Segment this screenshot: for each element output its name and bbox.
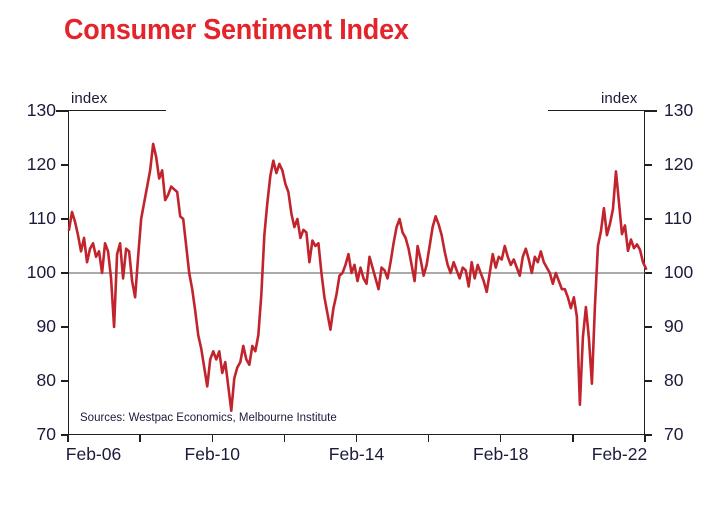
y-tick-mark-left-130 — [61, 110, 68, 111]
series-line-consumer-sentiment — [69, 144, 646, 411]
y-tick-mark-right-90 — [645, 326, 652, 327]
x-tick-mark-2 — [212, 435, 213, 442]
x-tick-mark-1 — [139, 435, 140, 442]
page-title: Consumer Sentiment Index — [64, 14, 409, 47]
y-tick-label-left-130: 130 — [27, 102, 56, 120]
y-axis-unit-label-left: index — [71, 90, 107, 107]
y-tick-label-left-110: 110 — [28, 210, 56, 228]
y-axis-unit-label-right: index — [601, 90, 637, 107]
x-tick-label-Feb-14: Feb-14 — [329, 444, 384, 465]
y-tick-label-right-110: 110 — [664, 210, 692, 228]
y-tick-label-right-100: 100 — [664, 264, 693, 282]
series-layer — [69, 111, 646, 435]
x-tick-label-Feb-10: Feb-10 — [185, 444, 240, 465]
y-tick-label-right-70: 70 — [664, 426, 683, 444]
y-tick-label-left-100: 100 — [27, 264, 56, 282]
y-tick-mark-left-100 — [61, 272, 68, 273]
x-tick-label-Feb-06: Feb-06 — [66, 444, 121, 465]
plot-area — [68, 111, 645, 435]
y-tick-label-right-120: 120 — [664, 156, 693, 174]
x-tick-mark-0 — [67, 435, 68, 442]
y-tick-mark-right-130 — [645, 110, 652, 111]
y-tick-mark-left-90 — [61, 326, 68, 327]
y-tick-mark-left-110 — [61, 218, 68, 219]
y-tick-label-right-90: 90 — [664, 318, 683, 336]
y-tick-label-right-80: 80 — [664, 372, 683, 390]
y-tick-mark-right-80 — [645, 380, 652, 381]
y-tick-mark-left-80 — [61, 380, 68, 381]
x-tick-label-Feb-18: Feb-18 — [473, 444, 528, 465]
y-tick-label-left-80: 80 — [37, 372, 56, 390]
y-tick-mark-left-120 — [61, 164, 68, 165]
x-tick-mark-5 — [428, 435, 429, 442]
x-tick-mark-3 — [284, 435, 285, 442]
y-tick-mark-right-100 — [645, 272, 652, 273]
y-tick-label-left-90: 90 — [37, 318, 56, 336]
y-tick-label-left-120: 120 — [27, 156, 56, 174]
y-tick-mark-right-120 — [645, 164, 652, 165]
x-tick-label-Feb-22: Feb-22 — [592, 444, 647, 465]
consumer-sentiment-chart: Consumer Sentiment Index index index 130… — [0, 0, 715, 505]
y-tick-mark-right-70 — [645, 434, 652, 435]
y-tick-mark-right-110 — [645, 218, 652, 219]
x-tick-mark-4 — [356, 435, 357, 442]
source-note: Sources: Westpac Economics, Melbourne In… — [80, 412, 337, 424]
y-tick-label-right-130: 130 — [664, 102, 693, 120]
x-tick-mark-8 — [644, 435, 645, 442]
x-tick-mark-7 — [572, 435, 573, 442]
y-tick-label-left-70: 70 — [37, 426, 56, 444]
x-tick-mark-6 — [500, 435, 501, 442]
